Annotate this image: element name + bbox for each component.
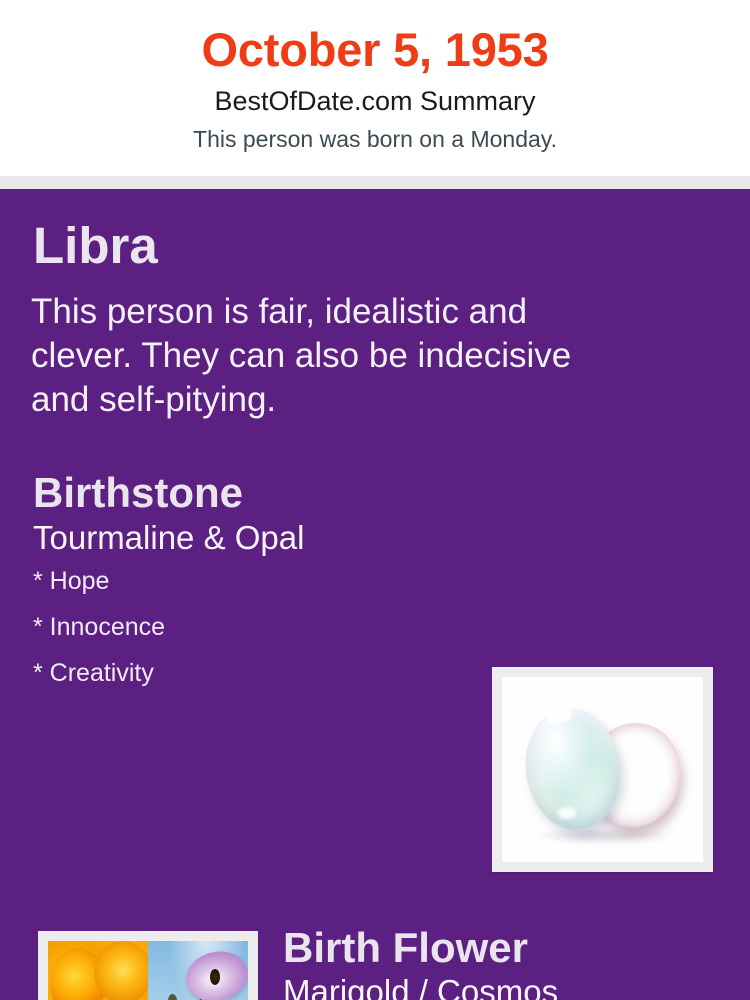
birth-day-note: This person was born on a Monday. (0, 128, 750, 151)
birth-flower-image (38, 931, 258, 1000)
birth-flower-flowers: Marigold / Cosmos (283, 975, 703, 1000)
birthstone-trait-list: * Hope * Innocence * Creativity (33, 569, 463, 686)
birthstone-section: Birthstone Tourmaline & Opal * Hope * In… (33, 472, 463, 707)
birth-flower-section: Birth Flower Marigold / Cosmos * Creativ… (283, 927, 703, 1000)
site-summary-label: BestOfDate.com Summary (0, 88, 750, 115)
marigold-bloom (94, 941, 148, 1000)
header-divider (0, 176, 750, 189)
gemstone-artwork (502, 677, 703, 862)
birthstone-title: Birthstone (33, 472, 463, 514)
zodiac-description: This person is fair, idealistic and clev… (31, 290, 626, 422)
flower-artwork (48, 941, 248, 1000)
zodiac-sign-title: Libra (33, 220, 158, 271)
cosmos-photo-half (148, 941, 248, 1000)
birthstone-image-inner (502, 677, 703, 862)
gem-shadow (534, 827, 675, 844)
birth-flower-title: Birth Flower (283, 927, 703, 969)
list-item: * Hope (33, 569, 463, 594)
list-item: * Innocence (33, 615, 463, 640)
card-header: October 5, 1953 BestOfDate.com Summary T… (0, 0, 750, 176)
birthstone-image (492, 667, 713, 872)
list-item: * Creativity (33, 661, 463, 686)
birthstone-stones: Tourmaline & Opal (33, 521, 463, 554)
cosmos-center (210, 969, 220, 985)
page-title: October 5, 1953 (0, 26, 750, 73)
birth-flower-image-inner (48, 941, 248, 1000)
summary-card: October 5, 1953 BestOfDate.com Summary T… (0, 0, 750, 1000)
summary-body: Libra This person is fair, idealistic an… (0, 189, 750, 1000)
marigold-photo-half (48, 941, 148, 1000)
